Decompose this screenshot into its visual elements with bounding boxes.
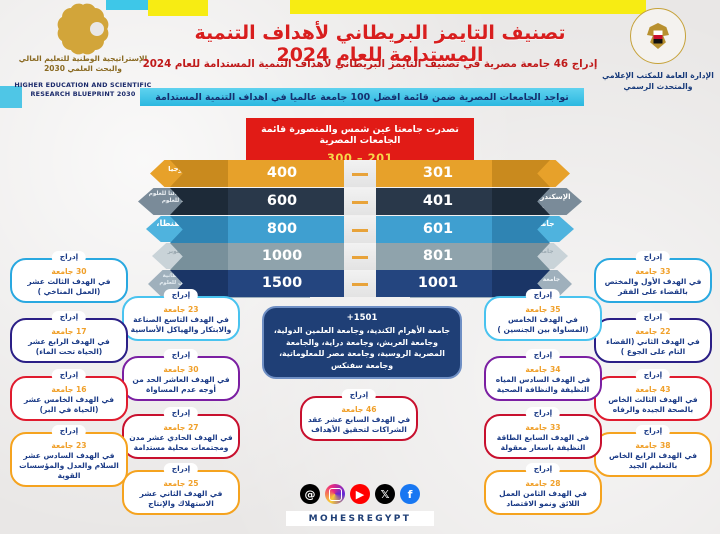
social-handle-text: MOHESREGYPT bbox=[309, 514, 412, 524]
goal-badge-text: في الهدف التاسع الصناعة والابتكار والهيا… bbox=[129, 315, 233, 335]
eagle-crest-icon bbox=[630, 8, 686, 64]
goal-badge-text: في الهدف الثالث عشر (العمل المناخي ) bbox=[17, 277, 121, 297]
goal-badge-text: في الهدف السادس عشر السلام والعدل والمؤس… bbox=[17, 451, 121, 481]
goal-badge-left-outer-3[interactable]: إدراج16 جامعةفي الهدف الخامس عشر (الحياة… bbox=[10, 376, 128, 421]
infographic-root: الإستراتيجية الوطنية للتعليم العالي والب… bbox=[0, 0, 720, 534]
tier-row-3: 800 601 bbox=[228, 216, 492, 243]
tier-5-range-high: 1500 bbox=[250, 270, 314, 297]
goal-badge-tab: إدراج bbox=[636, 425, 670, 438]
tier-2-range-low: 401 bbox=[406, 188, 470, 215]
goal-badge-count: 35 جامعة bbox=[491, 305, 595, 314]
goal-badge-count: 30 جامعة bbox=[129, 365, 233, 374]
page-subtitle: إدراج 46 جامعة مصرية في تصنيف التايمز ال… bbox=[120, 58, 620, 70]
goal-badge-text: في الهدف الثالث الخاص بالصحة الجيدة والر… bbox=[601, 395, 705, 415]
goal-badge-text: في الهدف الثاني عشر الاستهلاك والإنتاج bbox=[129, 489, 233, 509]
goal-badge-text: في الهدف الخامس (المساواة بين الجنسين ) bbox=[491, 315, 595, 335]
strategy-logo-label-en: HIGHER EDUCATION AND SCIENTIFIC RESEARCH… bbox=[8, 81, 158, 99]
goal-badge-text: في الهدف السادس المياه النظيفة والنظافة … bbox=[491, 375, 595, 395]
tier-4-range-low: 801 bbox=[406, 243, 470, 270]
rosette-icon bbox=[62, 8, 104, 50]
tier-row-5: 1500 1001 bbox=[228, 270, 492, 297]
goal-badge-count: 17 جامعة bbox=[17, 327, 121, 336]
tier-row-4: 1000 801 bbox=[228, 243, 492, 270]
tier-1-range-low: 301 bbox=[406, 160, 470, 187]
x-twitter-icon[interactable]: 𝕏 bbox=[375, 484, 395, 504]
goal-badge-tab: إدراج bbox=[636, 369, 670, 382]
top-rank-banner-text: تصدرت جامعتا عين شمس والمنصورة قائمة الج… bbox=[246, 118, 474, 146]
tier-5-range-low: 1001 bbox=[406, 270, 470, 297]
goal-badge-tab: إدراج bbox=[342, 389, 376, 402]
goal-badge-center-1[interactable]: إدراج46 جامعةفي الهدف السابع عشر عقد الش… bbox=[300, 396, 418, 441]
goal-badge-tab: إدراج bbox=[164, 463, 198, 476]
tier-row-1: 400 301 bbox=[228, 160, 492, 187]
goal-badge-count: 23 جامعة bbox=[129, 305, 233, 314]
goal-badge-tab: إدراج bbox=[52, 251, 86, 264]
goal-badge-text: في الهدف العاشر الحد من أوجه عدم المساوا… bbox=[129, 375, 233, 395]
goal-badge-count: 46 جامعة bbox=[307, 405, 411, 414]
goal-badge-text: في الهدف الثاني (القضاء التام على الجوع … bbox=[601, 337, 705, 357]
goal-badge-text: في الهدف السابع الطاقة النظيفة باسعار مع… bbox=[491, 433, 595, 453]
goal-badge-text: في الهدف الخامس عشر (الحياة في البر) bbox=[17, 395, 121, 415]
goal-badge-tab: إدراج bbox=[52, 369, 86, 382]
goal-badge-right-inner-4[interactable]: إدراج28 جامعةفي الهدف الثامن العمل اللائ… bbox=[484, 470, 602, 515]
goal-badge-text: في الهدف الحادي عشر مدن ومجتمعات محلية م… bbox=[129, 433, 233, 453]
goal-badge-tab: إدراج bbox=[52, 425, 86, 438]
facebook-icon[interactable]: f bbox=[400, 484, 420, 504]
goal-badge-tab: إدراج bbox=[52, 311, 86, 324]
goal-badge-text: في الهدف السابع عشر عقد الشراكات لتحقيق … bbox=[307, 415, 411, 435]
social-links[interactable]: f 𝕏 ▶ @ bbox=[300, 484, 420, 504]
goal-badge-count: 16 جامعة bbox=[17, 385, 121, 394]
unranked-rank-label: 1501+ bbox=[272, 313, 452, 323]
tier-row-2: 600 401 bbox=[228, 188, 492, 215]
goal-badge-count: 43 جامعة bbox=[601, 385, 705, 394]
goal-badge-count: 28 جامعة bbox=[491, 479, 595, 488]
tier-3-range-high: 800 bbox=[250, 216, 314, 243]
government-crest-logo: الإدارة العامة للمكتب الإعلامي والمتحدث … bbox=[602, 8, 714, 93]
goal-badge-tab: إدراج bbox=[526, 349, 560, 362]
goal-badge-count: 27 جامعة bbox=[129, 423, 233, 432]
tier-2-range-high: 600 bbox=[250, 188, 314, 215]
goal-badge-left-outer-2[interactable]: إدراج17 جامعةفي الهدف الرابع عشر (الحياة… bbox=[10, 318, 128, 363]
press-office-label: الإدارة العامة للمكتب الإعلامي والمتحدث … bbox=[602, 70, 714, 93]
tier-1-range-high: 400 bbox=[250, 160, 314, 187]
unranked-universities-text: جامعة الأهرام الكندية، وجامعة العلمين ال… bbox=[272, 325, 452, 372]
goal-badge-right-outer-4[interactable]: إدراج38 جامعةفي الهدف الرابع الخاص بالتع… bbox=[594, 432, 712, 477]
unranked-universities-box: 1501+ جامعة الأهرام الكندية، وجامعة العل… bbox=[262, 306, 462, 379]
goal-badge-count: 33 جامعة bbox=[601, 267, 705, 276]
goal-badge-text: في الهدف الرابع الخاص بالتعليم الجيد bbox=[601, 451, 705, 471]
goal-badge-right-inner-2[interactable]: إدراج34 جامعةفي الهدف السادس المياه النظ… bbox=[484, 356, 602, 401]
threads-icon[interactable]: @ bbox=[300, 484, 320, 504]
goal-badge-right-outer-3[interactable]: إدراج43 جامعةفي الهدف الثالث الخاص بالصح… bbox=[594, 376, 712, 421]
goal-badge-text: في الهدف الثامن العمل اللائق ونمو الاقتص… bbox=[491, 489, 595, 509]
highlight-band: تواجد الجامعات المصرية ضمن قائمة افضل 10… bbox=[140, 88, 584, 106]
goal-badge-tab: إدراج bbox=[526, 407, 560, 420]
social-handle: MOHESREGYPT bbox=[286, 511, 434, 526]
goal-badge-left-inner-3[interactable]: إدراج27 جامعةفي الهدف الحادي عشر مدن ومج… bbox=[122, 414, 240, 459]
tier-1-dash-icon bbox=[352, 173, 368, 176]
ministry-strategy-logo: الإستراتيجية الوطنية للتعليم العالي والب… bbox=[8, 8, 158, 99]
tier-3-range-low: 601 bbox=[406, 216, 470, 243]
goal-badge-count: 38 جامعة bbox=[601, 441, 705, 450]
goal-badge-tab: إدراج bbox=[164, 407, 198, 420]
goal-badge-text: في الهدف الرابع عشر (الحياة تحت الماء) bbox=[17, 337, 121, 357]
youtube-icon[interactable]: ▶ bbox=[350, 484, 370, 504]
goal-badge-tab: إدراج bbox=[526, 463, 560, 476]
goal-badge-tab: إدراج bbox=[526, 289, 560, 302]
goal-badge-left-outer-4[interactable]: إدراج23 جامعةفي الهدف السادس عشر السلام … bbox=[10, 432, 128, 487]
goal-badge-tab: إدراج bbox=[164, 289, 198, 302]
top-rank-banner: تصدرت جامعتا عين شمس والمنصورة قائمة الج… bbox=[246, 118, 474, 164]
goal-badge-count: 33 جامعة bbox=[491, 423, 595, 432]
goal-badge-count: 34 جامعة bbox=[491, 365, 595, 374]
goal-badge-text: في الهدف الأول والمختص بالقضاء على الفقر bbox=[601, 277, 705, 297]
goal-badge-left-outer-1[interactable]: إدراج30 جامعةفي الهدف الثالث عشر (العمل … bbox=[10, 258, 128, 303]
goal-badge-right-inner-3[interactable]: إدراج33 جامعةفي الهدف السابع الطاقة النظ… bbox=[484, 414, 602, 459]
goal-badge-count: 25 جامعة bbox=[129, 479, 233, 488]
goal-badge-right-outer-1[interactable]: إدراج33 جامعةفي الهدف الأول والمختص بالق… bbox=[594, 258, 712, 303]
goal-badge-count: 30 جامعة bbox=[17, 267, 121, 276]
goal-badge-tab: إدراج bbox=[636, 251, 670, 264]
goal-badge-count: 23 جامعة bbox=[17, 441, 121, 450]
tier-3-dash-icon bbox=[352, 229, 368, 232]
goal-badge-left-inner-2[interactable]: إدراج30 جامعةفي الهدف العاشر الحد من أوج… bbox=[122, 356, 240, 401]
goal-badge-left-inner-4[interactable]: إدراج25 جامعةفي الهدف الثاني عشر الاستهل… bbox=[122, 470, 240, 515]
tier-4-dash-icon bbox=[352, 256, 368, 259]
goal-badge-tab: إدراج bbox=[636, 311, 670, 324]
tier-4-range-high: 1000 bbox=[250, 243, 314, 270]
highlight-band-text: تواجد الجامعات المصرية ضمن قائمة افضل 10… bbox=[155, 92, 568, 103]
tier-5-dash-icon bbox=[352, 283, 368, 286]
goal-badge-right-inner-1[interactable]: إدراج35 جامعةفي الهدف الخامس (المساواة ب… bbox=[484, 296, 602, 341]
goal-badge-count: 22 جامعة bbox=[601, 327, 705, 336]
ranking-pyramid: 400 301 600 401 800 601 1000 801 bbox=[228, 160, 492, 300]
decor-yellow-top-bar bbox=[290, 0, 645, 14]
goal-badge-left-inner-1[interactable]: إدراج23 جامعةفي الهدف التاسع الصناعة وال… bbox=[122, 296, 240, 341]
goal-badge-right-outer-2[interactable]: إدراج22 جامعةفي الهدف الثاني (القضاء الت… bbox=[594, 318, 712, 363]
goal-badge-tab: إدراج bbox=[164, 349, 198, 362]
tier-2-dash-icon bbox=[352, 201, 368, 204]
instagram-icon[interactable] bbox=[325, 484, 345, 504]
